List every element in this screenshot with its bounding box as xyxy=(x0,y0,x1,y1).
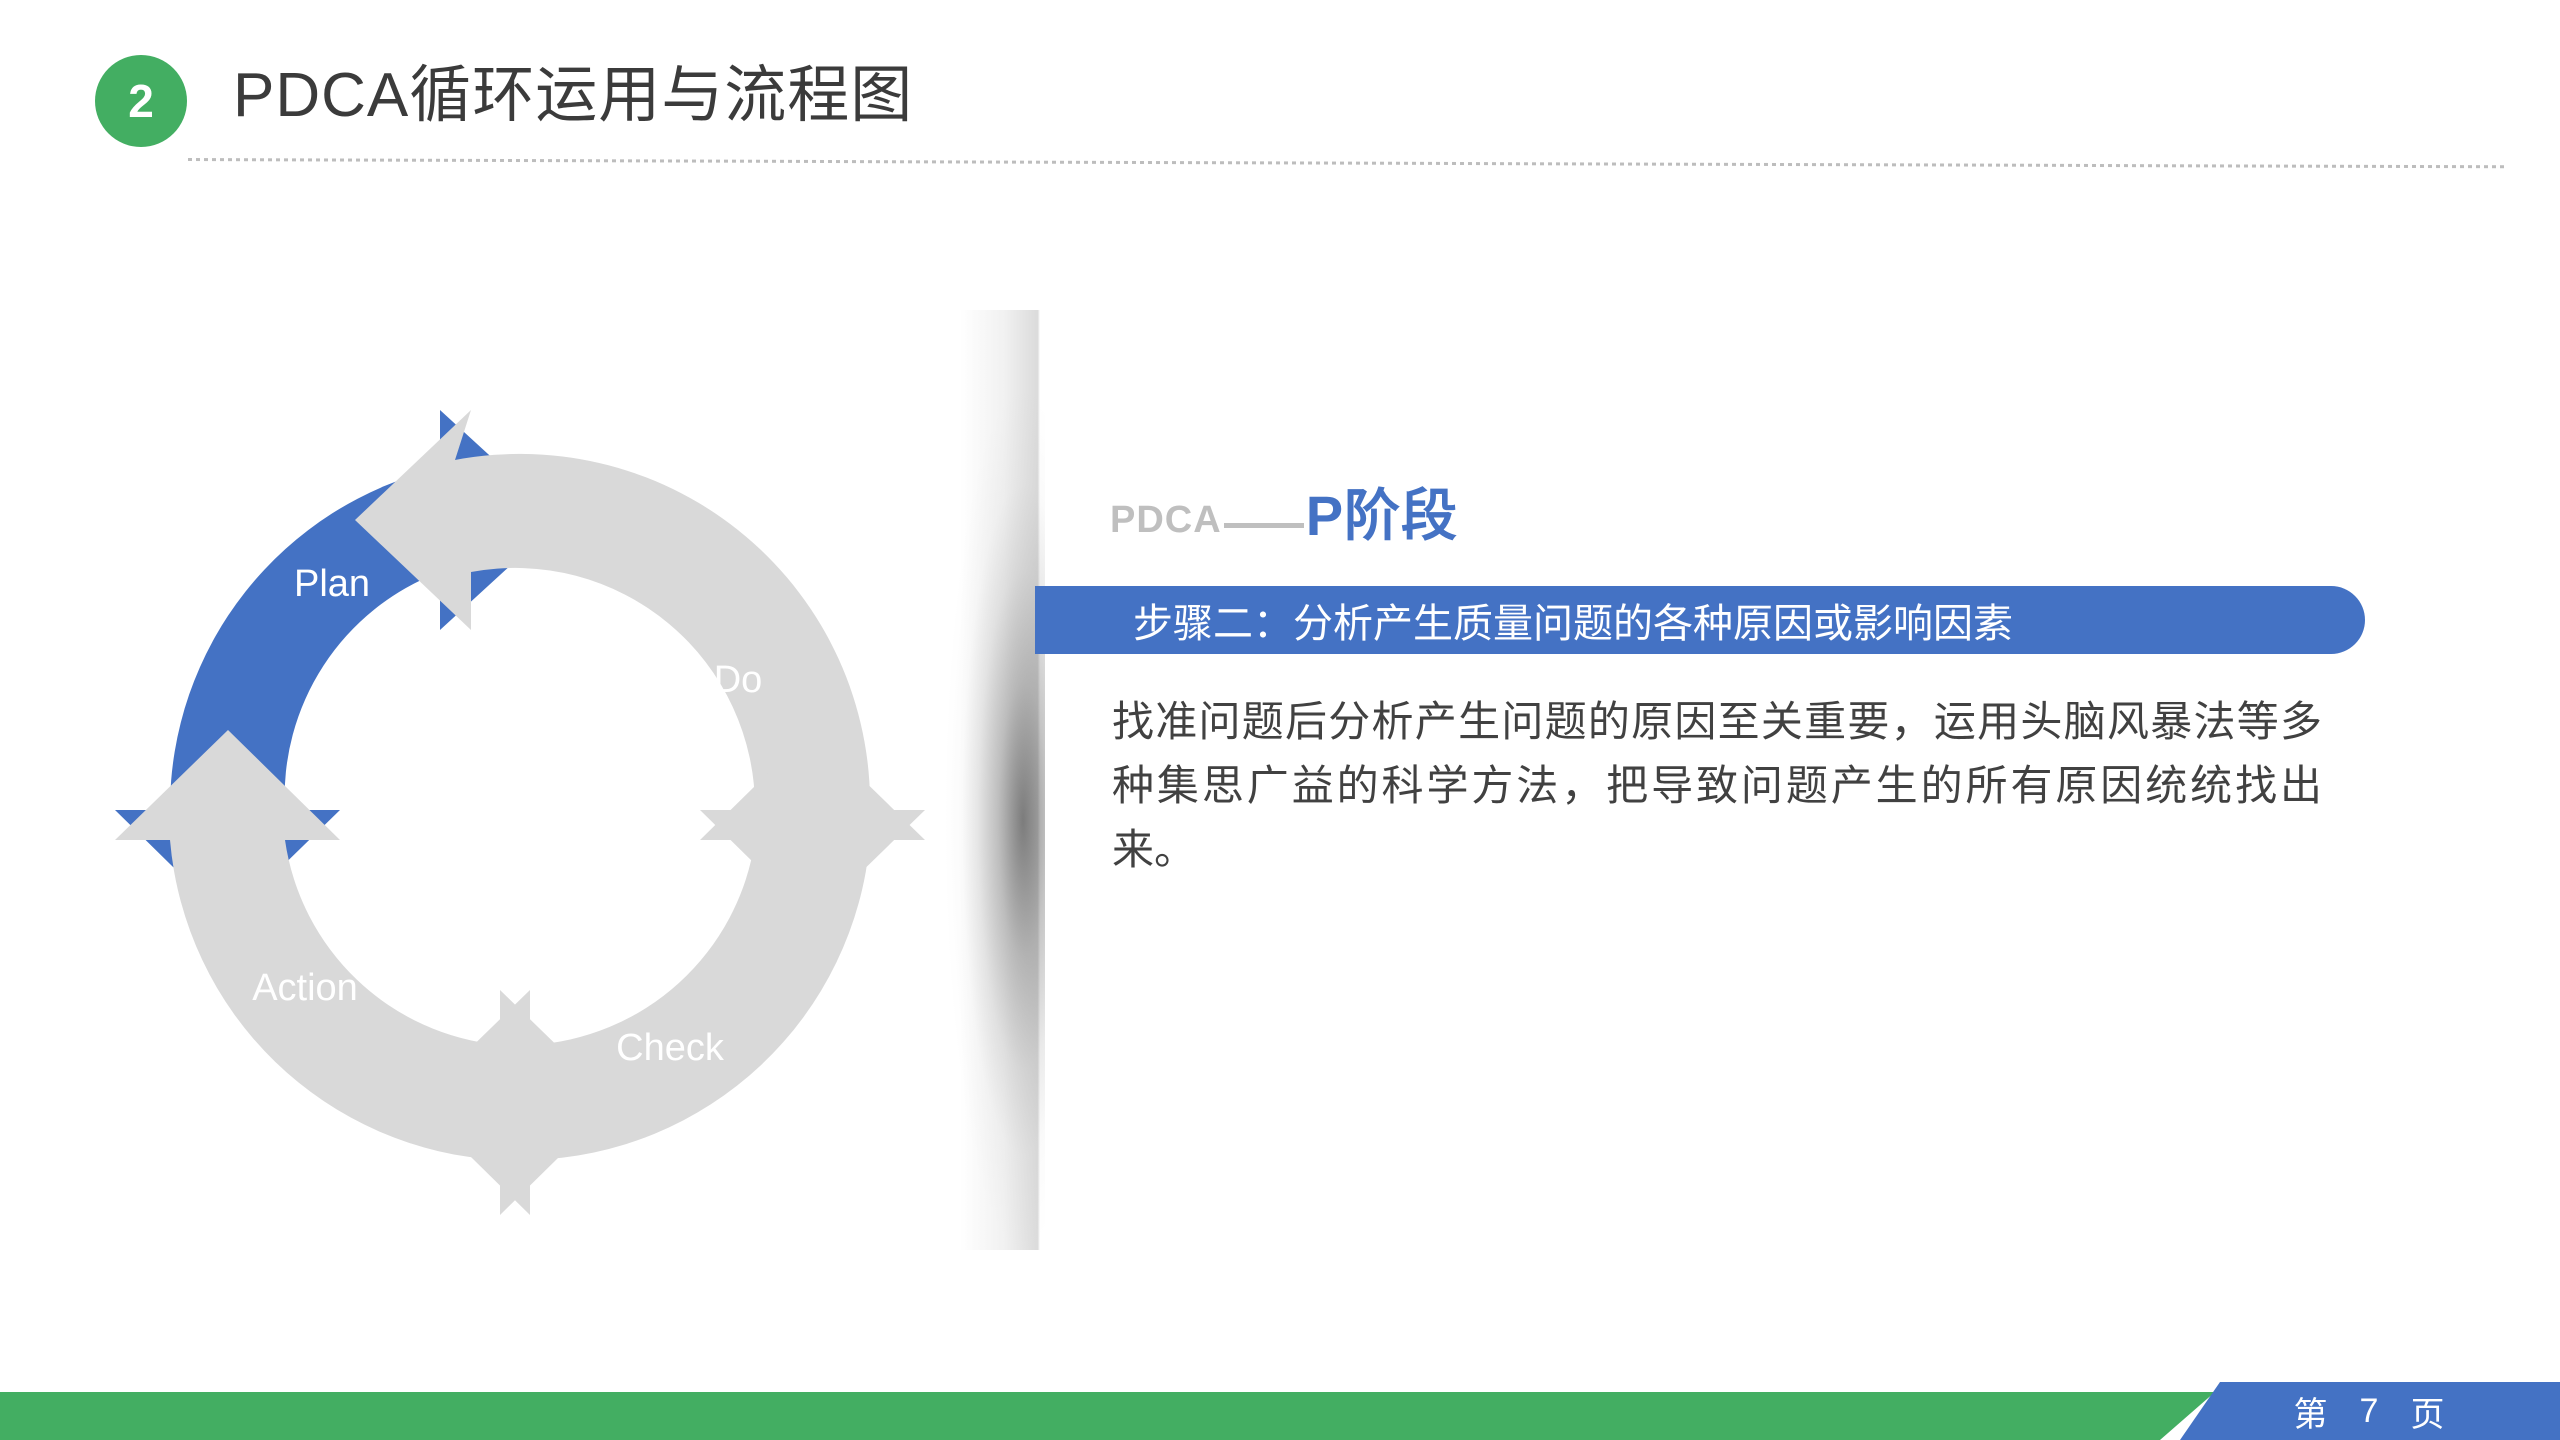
step-banner: 步骤二：分析产生质量问题的各种原因或影响因素 xyxy=(1035,586,2365,654)
page-indicator: 第 7 页 xyxy=(2294,1387,2447,1436)
stage-kicker: PDCA P阶段 xyxy=(1110,488,1458,544)
footer-green-bar xyxy=(0,1392,2215,1440)
pdca-cycle-diagram: Plan Do Check Action xyxy=(110,400,930,1220)
pdca-label-check-text: Check xyxy=(616,1027,725,1069)
slide-canvas: 2 PDCA循环运用与流程图 Plan Do Check xyxy=(0,0,2560,1440)
page-number-value: 7 xyxy=(2360,1392,2381,1431)
pdca-label-plan-text: Plan xyxy=(294,563,370,605)
section-number-text: 2 xyxy=(128,78,154,124)
page-title: PDCA循环运用与流程图 xyxy=(233,44,913,134)
header-divider-rule xyxy=(188,158,2508,168)
page-prefix-label: 第 xyxy=(2294,1387,2330,1436)
stage-kicker-main: P阶段 xyxy=(1306,488,1458,544)
stage-kicker-dash-icon xyxy=(1224,523,1304,528)
center-shadow-edge xyxy=(960,310,1040,1250)
footer-page-block: 第 7 页 xyxy=(2180,1382,2560,1440)
step-banner-text: 步骤二：分析产生质量问题的各种原因或影响因素 xyxy=(1133,591,2013,649)
page-suffix-label: 页 xyxy=(2410,1387,2446,1436)
section-number-badge: 2 xyxy=(95,55,187,147)
pdca-label-do-text: Do xyxy=(714,659,763,701)
body-paragraph: 找准问题后分析产生问题的原因至关重要，运用头脑风暴法等多种集思广益的科学方法，把… xyxy=(1112,690,2322,881)
pdca-segment-action: Action xyxy=(115,730,615,1215)
pdca-label-action-text: Action xyxy=(252,967,358,1009)
stage-kicker-prefix: PDCA xyxy=(1110,501,1222,544)
